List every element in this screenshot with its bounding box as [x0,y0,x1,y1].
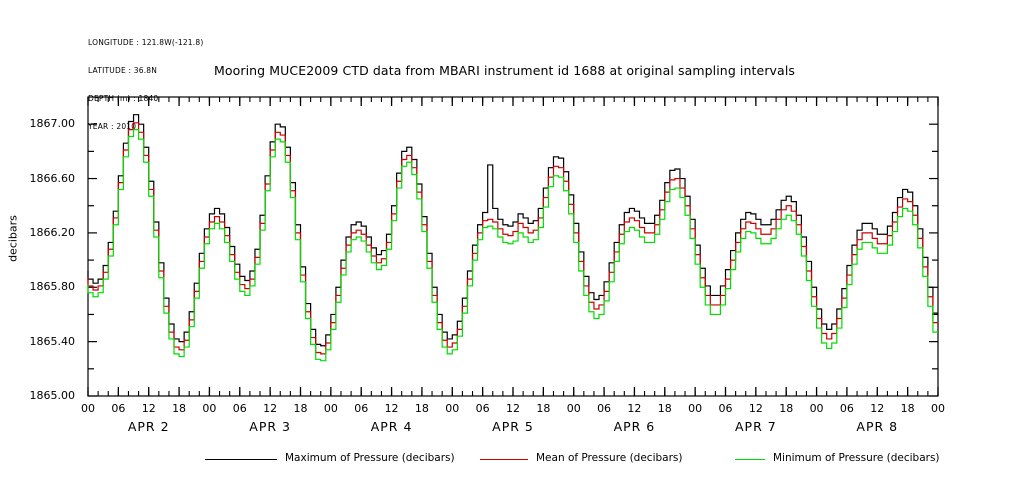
x-day-label: APR 5 [453,419,573,434]
y-tick-label: 1866.20 [0,226,75,239]
legend-label: Minimum of Pressure (decibars) [773,452,940,464]
legend-swatch [480,459,528,460]
plot-frame [88,97,938,396]
y-tick-label: 1865.40 [0,335,75,348]
legend-label: Maximum of Pressure (decibars) [285,452,455,464]
series-line [88,123,938,354]
x-day-label: APR 4 [332,419,452,434]
legend-swatch [205,459,277,460]
series-line [88,115,938,346]
y-tick-label: 1866.60 [0,172,75,185]
x-day-label: APR 2 [89,419,209,434]
y-tick-label: 1865.80 [0,280,75,293]
legend-swatch [735,459,765,460]
x-day-label: APR 6 [574,419,694,434]
x-day-label: APR 3 [210,419,330,434]
legend: Maximum of Pressure (decibars)Mean of Pr… [0,448,1009,470]
x-day-label: APR 7 [696,419,816,434]
x-day-label: APR 8 [817,419,937,434]
x-tick-label: 00 [918,402,958,415]
y-tick-label: 1867.00 [0,117,75,130]
series-line [88,130,938,361]
y-tick-label: 1865.00 [0,389,75,402]
legend-label: Mean of Pressure (decibars) [536,452,682,464]
